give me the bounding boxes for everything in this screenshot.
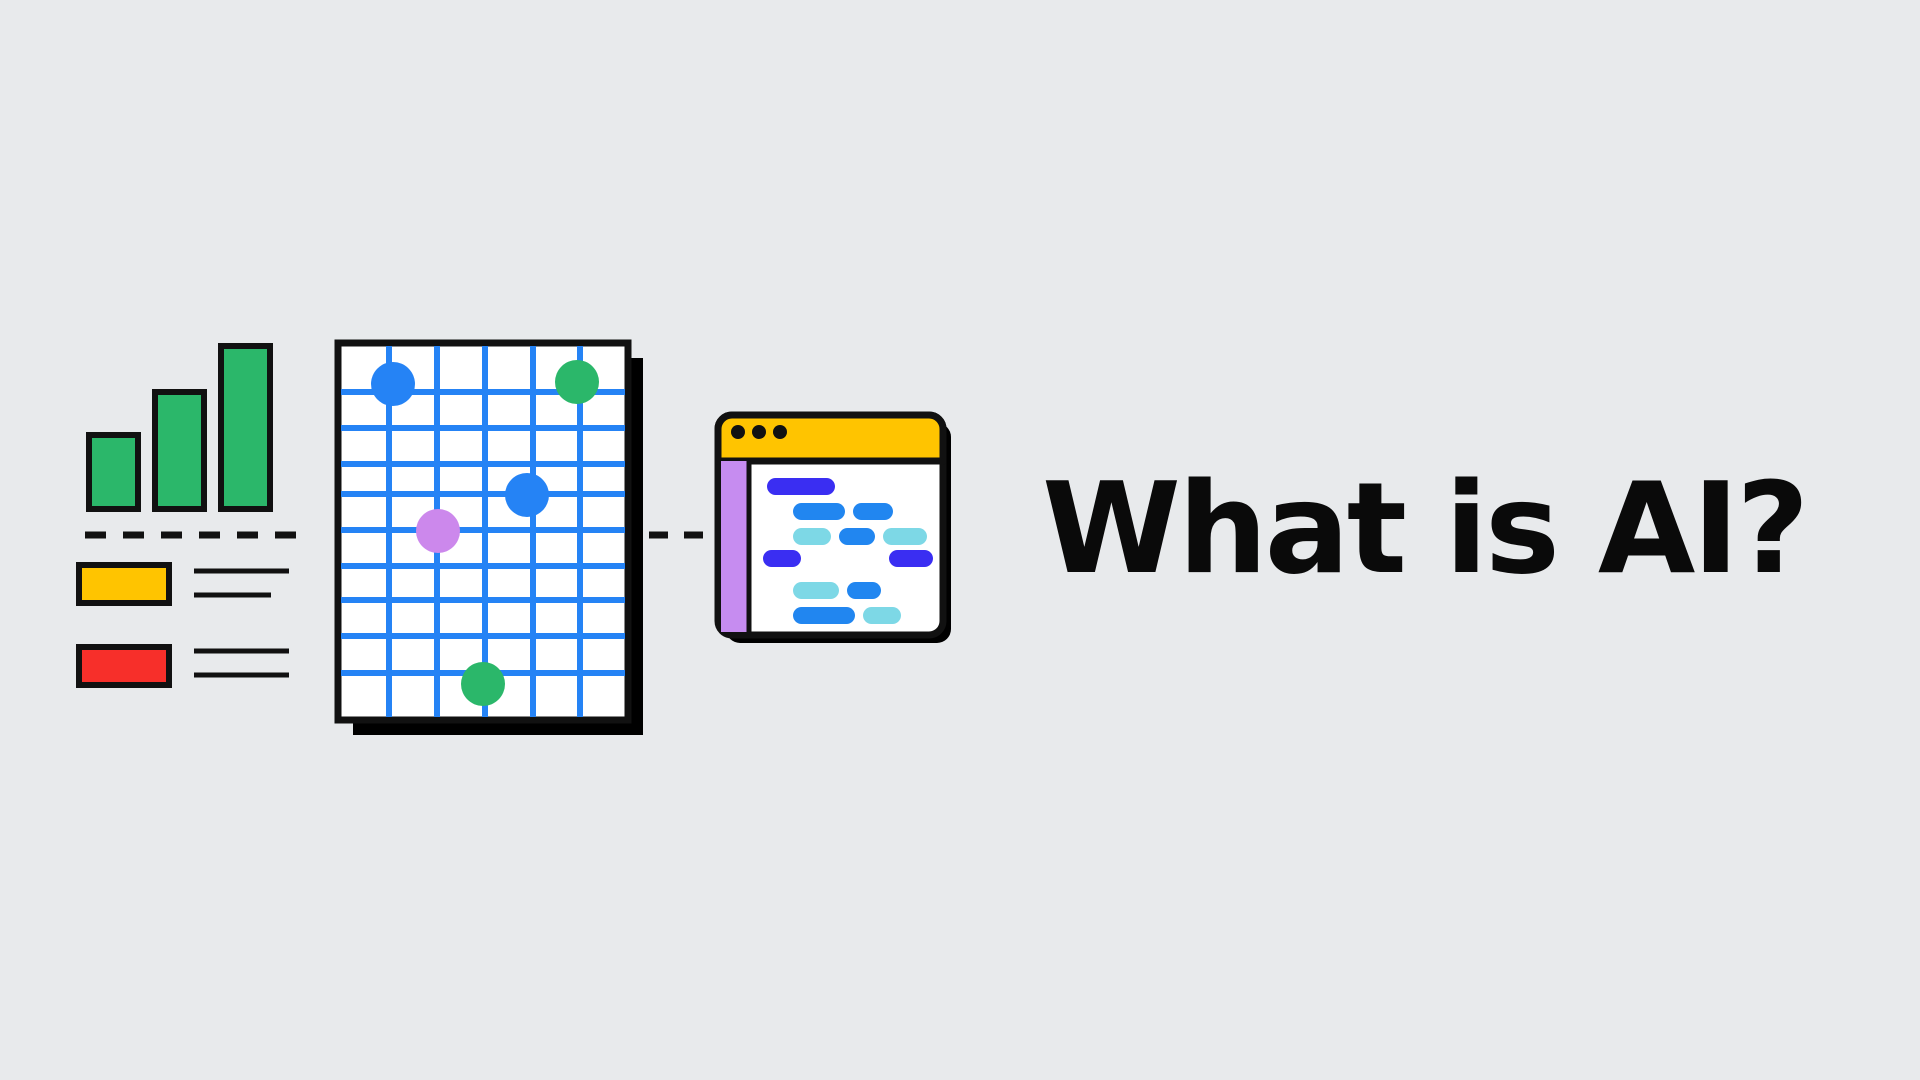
code-pill xyxy=(883,528,927,545)
bar-1 xyxy=(89,435,138,509)
growth-bar-chart xyxy=(85,346,313,535)
code-window-titlebar xyxy=(718,415,943,461)
code-pill xyxy=(793,607,855,624)
scatter-point-5 xyxy=(461,662,505,706)
code-pill xyxy=(793,503,845,520)
code-window-sidebar xyxy=(721,461,749,632)
scatter-point-2 xyxy=(555,360,599,404)
titlebar-dot-2 xyxy=(752,425,766,439)
scatter-point-3 xyxy=(505,473,549,517)
illustration-canvas: What is AI? xyxy=(0,0,1920,1080)
legend-swatch-red xyxy=(79,647,169,685)
code-window-traffic-dots xyxy=(731,425,787,439)
scatter-point-1 xyxy=(371,362,415,406)
code-pill xyxy=(853,503,893,520)
bar-3 xyxy=(221,346,270,509)
code-pill xyxy=(847,582,881,599)
code-pill xyxy=(889,550,933,567)
titlebar-dot-1 xyxy=(731,425,745,439)
code-pill xyxy=(863,607,901,624)
titlebar-dot-3 xyxy=(773,425,787,439)
code-editor-window xyxy=(718,415,951,643)
legend-swatch-yellow xyxy=(79,565,169,603)
legend-block xyxy=(79,565,289,685)
code-pill xyxy=(763,550,801,567)
code-pill xyxy=(767,478,835,495)
code-pill xyxy=(793,528,831,545)
scatter-point-4 xyxy=(416,509,460,553)
grid-scatter-card xyxy=(338,343,643,735)
code-pill xyxy=(839,528,875,545)
bar-2 xyxy=(155,392,204,509)
code-pill xyxy=(793,582,839,599)
page-headline: What is AI? xyxy=(1042,466,1806,592)
